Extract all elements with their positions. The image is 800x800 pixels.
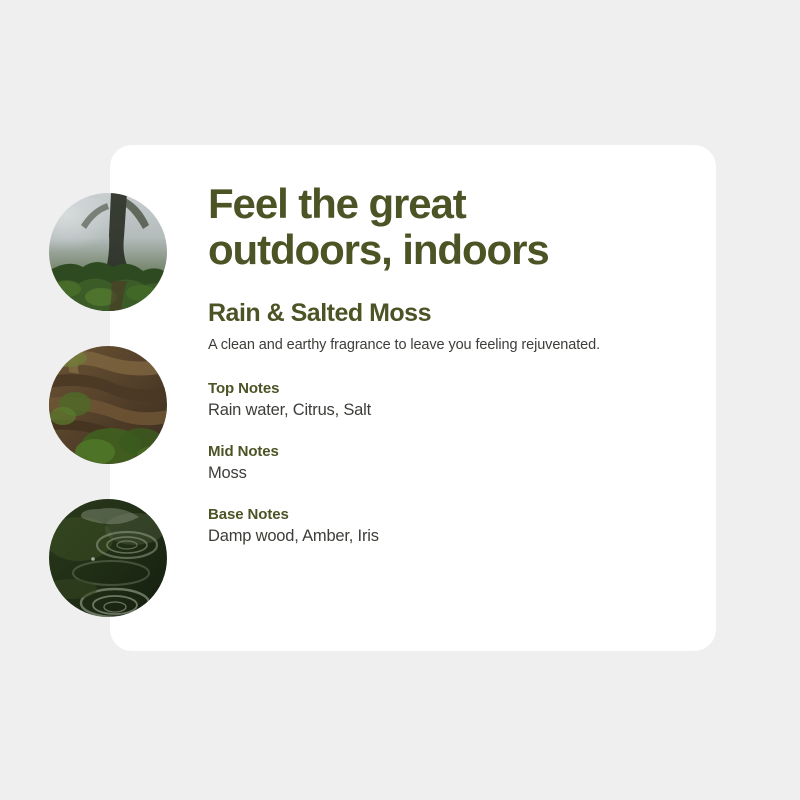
fragrance-description: A clean and earthy fragrance to leave yo… bbox=[208, 335, 678, 355]
product-showcase: Feel the great outdoors, indoors Rain & … bbox=[0, 0, 800, 800]
mossy-bark-photo[interactable] bbox=[49, 346, 167, 464]
fragrance-name: Rain & Salted Moss bbox=[208, 299, 678, 328]
note-group-base: Base Notes Damp wood, Amber, Iris bbox=[208, 504, 678, 548]
note-value: Moss bbox=[208, 462, 678, 485]
note-value: Rain water, Citrus, Salt bbox=[208, 399, 678, 422]
fragrance-notes-list: Top Notes Rain water, Citrus, Salt Mid N… bbox=[208, 378, 678, 548]
rippled-water-photo[interactable] bbox=[49, 499, 167, 617]
note-label: Mid Notes bbox=[208, 441, 678, 462]
misty-forest-photo[interactable] bbox=[49, 193, 167, 311]
note-group-top: Top Notes Rain water, Citrus, Salt bbox=[208, 378, 678, 422]
page-title: Feel the great outdoors, indoors bbox=[208, 181, 678, 273]
note-group-mid: Mid Notes Moss bbox=[208, 441, 678, 485]
note-label: Base Notes bbox=[208, 504, 678, 525]
image-gallery-rail bbox=[49, 193, 169, 613]
card-content: Feel the great outdoors, indoors Rain & … bbox=[208, 181, 678, 548]
note-value: Damp wood, Amber, Iris bbox=[208, 525, 678, 548]
note-label: Top Notes bbox=[208, 378, 678, 399]
